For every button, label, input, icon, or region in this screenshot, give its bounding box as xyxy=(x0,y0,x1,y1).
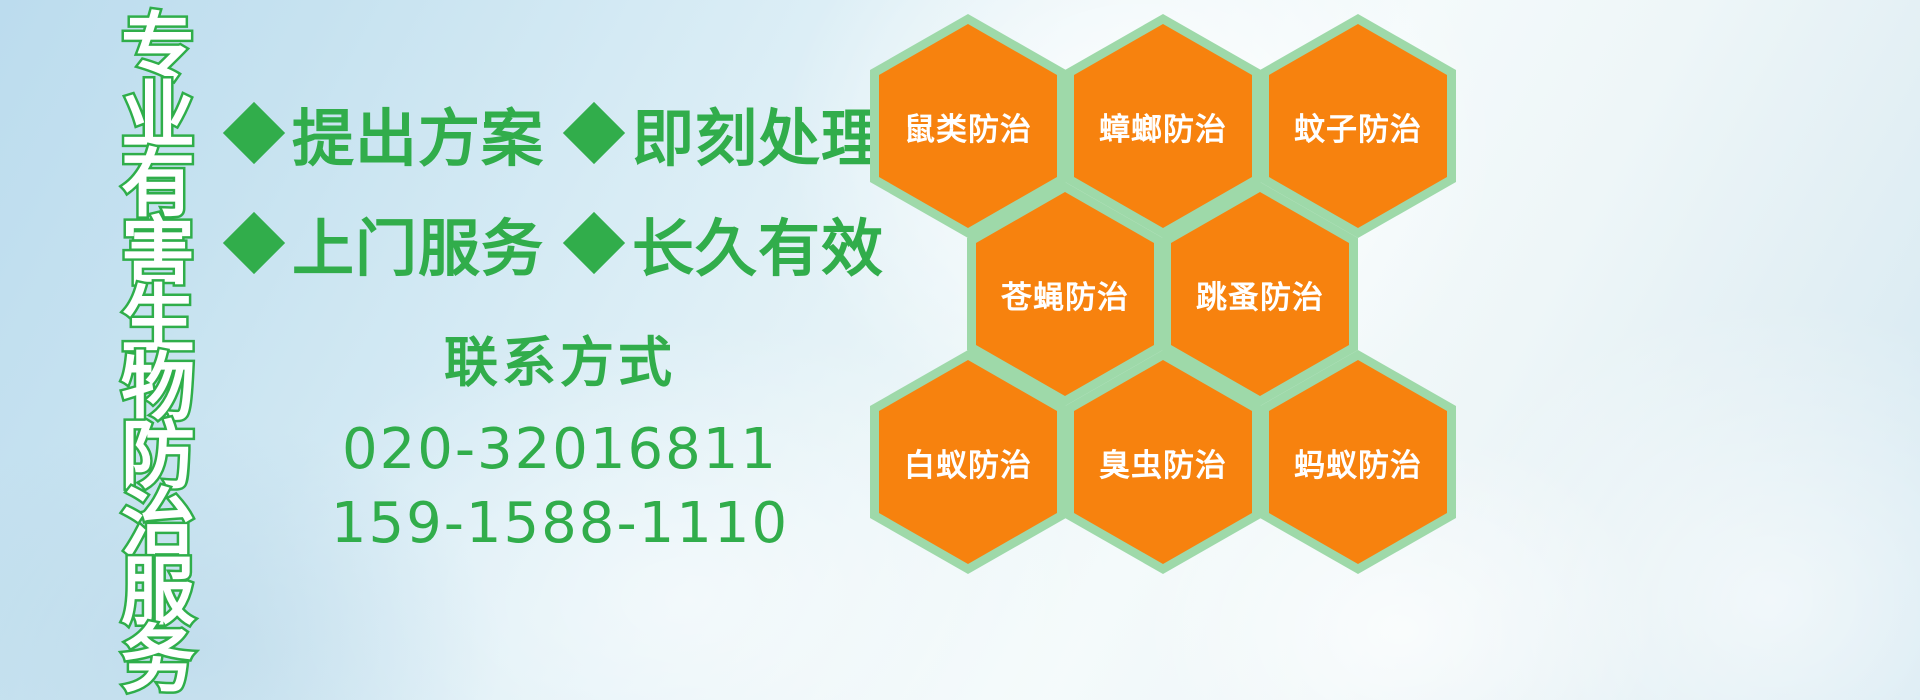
vertical-title: 专 业 有 害 生 物 防 治 服 务 xyxy=(112,14,204,694)
hex-inner: 蟑螂防治 xyxy=(1074,24,1252,228)
vertical-title-char: 专 xyxy=(121,14,195,82)
diamond-icon xyxy=(563,102,625,164)
service-label: 臭虫防治 xyxy=(1099,440,1227,485)
hex-inner: 蚊子防治 xyxy=(1269,24,1447,228)
pest-control-banner: 专 业 有 害 生 物 防 治 服 务 提出方案 即刻处理 上门服务 xyxy=(0,0,1920,700)
vertical-title-char: 害 xyxy=(121,218,195,286)
feature-row: 上门服务 长久有效 xyxy=(232,188,872,298)
service-label: 苍蝇防治 xyxy=(1001,272,1129,317)
service-label: 白蚁防治 xyxy=(904,440,1032,485)
service-label: 蚊子防治 xyxy=(1294,104,1422,149)
hex-inner: 蚂蚁防治 xyxy=(1269,360,1447,564)
feature-item: 上门服务 xyxy=(232,198,544,288)
hex-inner: 鼠类防治 xyxy=(879,24,1057,228)
feature-row: 提出方案 即刻处理 xyxy=(232,78,872,188)
service-label: 蟑螂防治 xyxy=(1099,104,1227,149)
hex-inner: 跳蚤防治 xyxy=(1171,192,1349,396)
feature-label: 上门服务 xyxy=(292,198,544,288)
diamond-icon xyxy=(223,212,285,274)
vertical-title-char: 务 xyxy=(121,626,195,694)
hex-inner: 臭虫防治 xyxy=(1074,360,1252,564)
service-honeycomb: 鼠类防治 蟑螂防治 蚊子防治 苍蝇防治 跳蚤防治 白蚁防治 xyxy=(862,4,1462,700)
phone-number-landline[interactable]: 020-32016811 xyxy=(300,413,820,487)
service-label: 跳蚤防治 xyxy=(1196,272,1324,317)
feature-list: 提出方案 即刻处理 上门服务 长久有效 xyxy=(232,78,872,298)
feature-item: 即刻处理 xyxy=(572,88,884,178)
diamond-icon xyxy=(563,212,625,274)
feature-item: 长久有效 xyxy=(572,198,884,288)
vertical-title-char: 服 xyxy=(121,558,195,626)
vertical-title-char: 有 xyxy=(121,150,195,218)
hex-inner: 苍蝇防治 xyxy=(976,192,1154,396)
diamond-icon xyxy=(223,102,285,164)
feature-label: 提出方案 xyxy=(292,88,544,178)
service-label: 鼠类防治 xyxy=(904,104,1032,149)
service-label: 蚂蚁防治 xyxy=(1294,440,1422,485)
vertical-title-char: 物 xyxy=(121,354,195,422)
hex-inner: 白蚁防治 xyxy=(879,360,1057,564)
vertical-title-char: 业 xyxy=(121,82,195,150)
vertical-title-char: 防 xyxy=(121,422,195,490)
contact-block: 联系方式 020-32016811 159-1588-1110 xyxy=(300,318,820,561)
contact-title: 联系方式 xyxy=(300,318,820,397)
feature-label: 长久有效 xyxy=(632,198,884,288)
background-glow xyxy=(1420,300,1920,700)
vertical-title-char: 治 xyxy=(121,490,195,558)
feature-item: 提出方案 xyxy=(232,88,544,178)
phone-number-mobile[interactable]: 159-1588-1110 xyxy=(300,487,820,561)
feature-label: 即刻处理 xyxy=(632,88,884,178)
vertical-title-char: 生 xyxy=(121,286,195,354)
